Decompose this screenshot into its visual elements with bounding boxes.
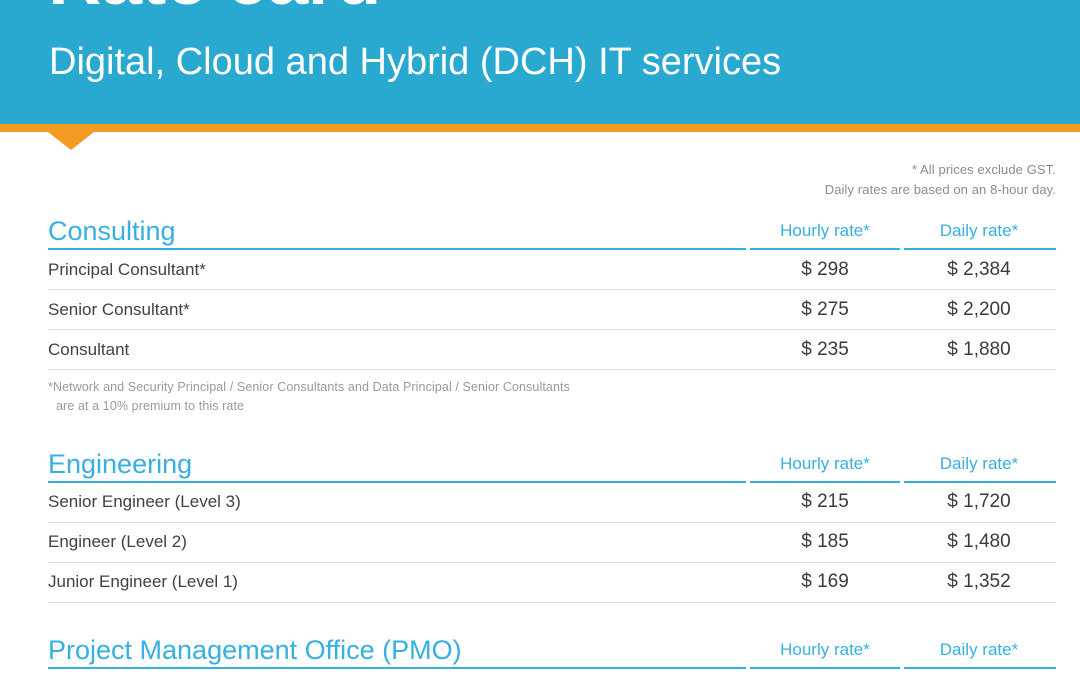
daily-rate-value: $ 1,720	[902, 491, 1056, 513]
table-row: Principal Consultant* $ 298 $ 2,384	[48, 250, 1056, 290]
role-label: Senior Consultant*	[48, 300, 748, 320]
hourly-rate-value: $ 235	[748, 339, 902, 361]
table-row: Senior Engineer (Level 3) $ 215 $ 1,720	[48, 483, 1056, 523]
underline-segment-hourly	[750, 248, 900, 250]
hourly-rate-value: $ 169	[748, 571, 902, 593]
hourly-rate-value: $ 215	[748, 491, 902, 513]
section-title: Project Management Office (PMO)	[48, 635, 748, 665]
page-title: Rate card	[48, 0, 381, 16]
role-label: Senior Engineer (Level 3)	[48, 492, 748, 512]
daily-rate-value: $ 1,880	[902, 339, 1056, 361]
header-banner: Rate card Digital, Cloud and Hybrid (DCH…	[0, 0, 1080, 124]
rate-card-page: Rate card Digital, Cloud and Hybrid (DCH…	[0, 0, 1080, 675]
section-header-engineering: Engineering Hourly rate* Daily rate*	[48, 445, 1056, 479]
section-header-consulting: Consulting Hourly rate* Daily rate*	[48, 212, 1056, 246]
section-underline	[48, 481, 1056, 483]
column-header-daily: Daily rate*	[902, 449, 1056, 479]
table-row: Senior Project Manager $ 260 $ 2,080	[48, 669, 1056, 675]
underline-segment-daily	[904, 667, 1056, 669]
section-underline	[48, 667, 1056, 669]
underline-segment-label	[48, 667, 746, 669]
section-title: Consulting	[48, 216, 748, 246]
table-row: Engineer (Level 2) $ 185 $ 1,480	[48, 523, 1056, 563]
underline-segment-daily	[904, 481, 1056, 483]
table-row: Senior Consultant* $ 275 $ 2,200	[48, 290, 1056, 330]
role-label: Consultant	[48, 340, 748, 360]
underline-segment-label	[48, 481, 746, 483]
daily-rate-value: $ 1,352	[902, 571, 1056, 593]
daily-rate-value: $ 1,480	[902, 531, 1056, 553]
underline-segment-hourly	[750, 481, 900, 483]
role-label: Principal Consultant*	[48, 260, 748, 280]
orange-notch-triangle	[48, 132, 94, 150]
rate-sections: Consulting Hourly rate* Daily rate* Prin…	[48, 212, 1056, 675]
column-header-hourly: Hourly rate*	[748, 635, 902, 665]
section-title: Engineering	[48, 449, 748, 479]
hourly-rate-value: $ 298	[748, 259, 902, 281]
section-pmo: Project Management Office (PMO) Hourly r…	[48, 631, 1056, 675]
underline-segment-daily	[904, 248, 1056, 250]
table-row: Junior Engineer (Level 1) $ 169 $ 1,352	[48, 563, 1056, 603]
column-header-daily: Daily rate*	[902, 216, 1056, 246]
disclaimer-line-1: * All prices exclude GST.	[536, 160, 1056, 180]
underline-segment-label	[48, 248, 746, 250]
section-header-pmo: Project Management Office (PMO) Hourly r…	[48, 631, 1056, 665]
column-header-hourly: Hourly rate*	[748, 216, 902, 246]
hourly-rate-value: $ 275	[748, 299, 902, 321]
footnote-line-1: *Network and Security Principal / Senior…	[48, 380, 570, 394]
daily-rate-value: $ 2,200	[902, 299, 1056, 321]
table-row: Consultant $ 235 $ 1,880	[48, 330, 1056, 370]
role-label: Engineer (Level 2)	[48, 532, 748, 552]
section-engineering: Engineering Hourly rate* Daily rate* Sen…	[48, 445, 1056, 603]
footnote-line-2: are at a 10% premium to this rate	[48, 397, 1056, 416]
role-label: Junior Engineer (Level 1)	[48, 572, 748, 592]
daily-rate-value: $ 2,384	[902, 259, 1056, 281]
underline-segment-hourly	[750, 667, 900, 669]
price-disclaimer: * All prices exclude GST. Daily rates ar…	[536, 160, 1056, 199]
section-consulting: Consulting Hourly rate* Daily rate* Prin…	[48, 212, 1056, 417]
hourly-rate-value: $ 185	[748, 531, 902, 553]
column-header-hourly: Hourly rate*	[748, 449, 902, 479]
column-header-daily: Daily rate*	[902, 635, 1056, 665]
section-underline	[48, 248, 1056, 250]
disclaimer-line-2: Daily rates are based on an 8-hour day.	[536, 180, 1056, 200]
consulting-footnote: *Network and Security Principal / Senior…	[48, 378, 1056, 417]
orange-divider	[0, 124, 1080, 132]
page-subtitle: Digital, Cloud and Hybrid (DCH) IT servi…	[49, 40, 781, 86]
